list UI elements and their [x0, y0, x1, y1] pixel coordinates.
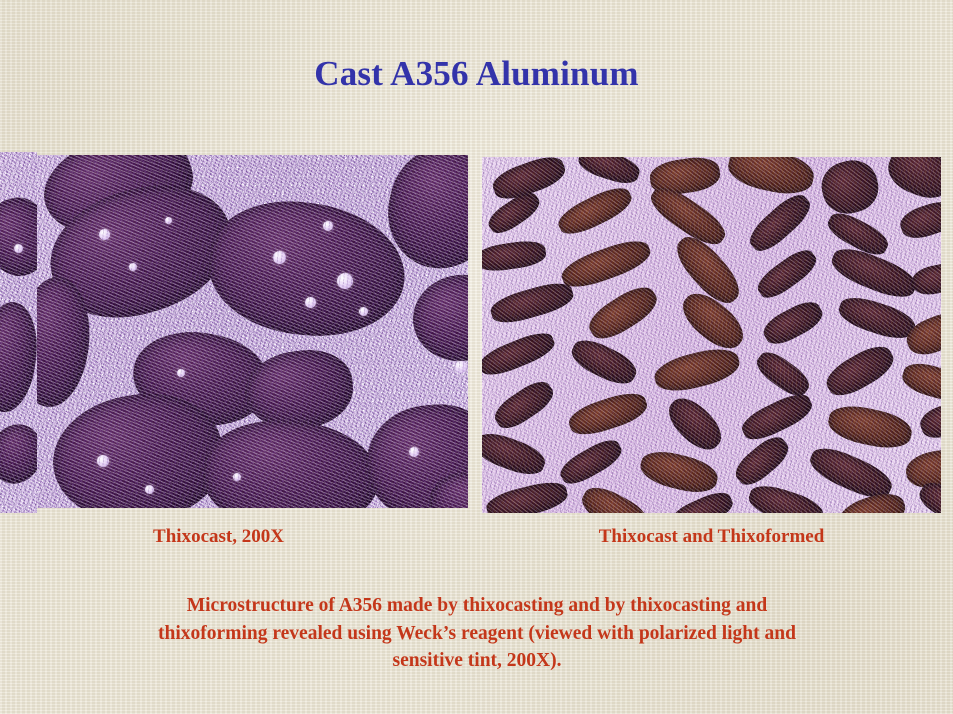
eutectic-droplet: [129, 263, 137, 271]
page-title: Cast A356 Aluminum: [0, 56, 953, 93]
eutectic-droplet: [14, 244, 23, 253]
caption-thixocast-thixoformed: Thixocast and Thixoformed: [482, 527, 941, 548]
micrograph-thixocast-thixoformed: [482, 157, 941, 513]
eutectic-droplet: [177, 369, 185, 377]
description-line-3: sensitive tint, 200X).: [62, 647, 892, 675]
eutectic-droplet: [409, 447, 419, 457]
eutectic-droplet: [455, 361, 467, 373]
grain: [0, 192, 37, 282]
figure-description: Microstructure of A356 made by thixocast…: [62, 592, 892, 675]
micrograph-thixocast-left-strip: [0, 152, 37, 513]
description-line-1: Microstructure of A356 made by thixocast…: [62, 592, 892, 620]
eutectic-droplet: [337, 273, 353, 289]
eutectic-droplet: [323, 221, 333, 231]
eutectic-droplet: [165, 217, 172, 224]
eutectic-droplet: [145, 485, 154, 494]
eutectic-droplet: [305, 297, 316, 308]
eutectic-droplet: [99, 229, 110, 240]
eutectic-droplet: [97, 455, 109, 467]
eutectic-droplet: [273, 251, 286, 264]
micrograph-thixocast: [37, 155, 468, 508]
eutectic-droplet: [233, 473, 241, 481]
eutectic-droplet: [359, 307, 368, 316]
description-line-2: thixoforming revealed using Weck’s reage…: [62, 620, 892, 648]
slide-canvas: Cast A356 Aluminum: [0, 0, 953, 714]
caption-thixocast: Thixocast, 200X: [0, 527, 437, 548]
